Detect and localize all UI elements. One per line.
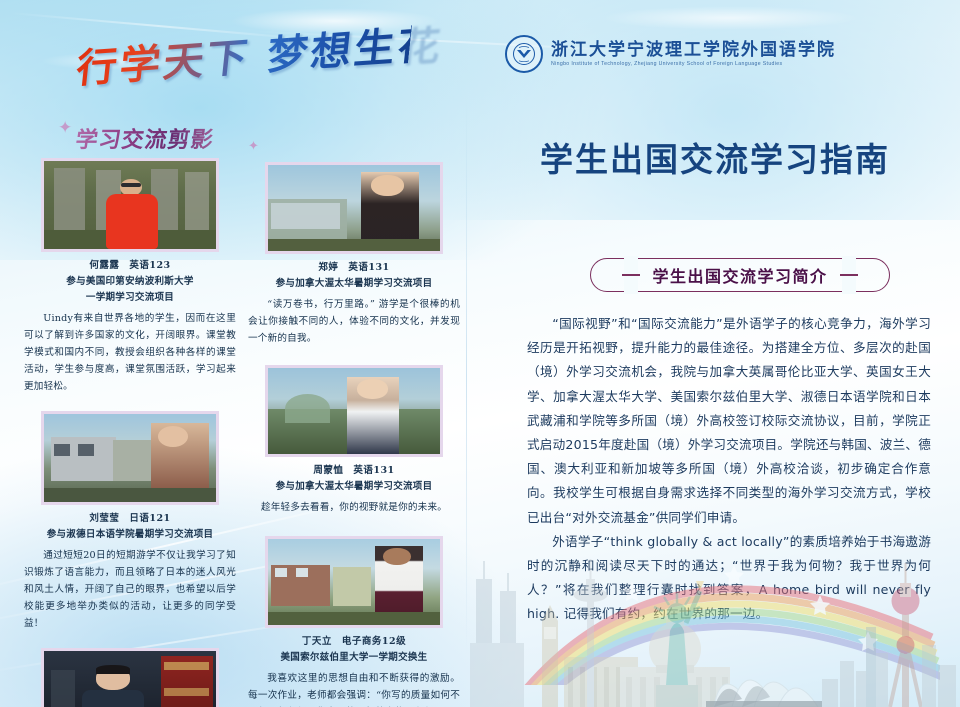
student-photo bbox=[44, 161, 216, 249]
student-program-line1: 参与淑德日本语学院暑期学习交流项目 bbox=[24, 526, 236, 540]
star-decoration-right: ✦ bbox=[248, 138, 259, 154]
student-photo bbox=[268, 539, 440, 625]
student-name-line: 刘莹莹日语121 bbox=[24, 510, 236, 524]
student-testimonial: 趁年轻多去看看，你的视野就是你的未来。 bbox=[248, 499, 460, 516]
student-photo-frame bbox=[41, 648, 219, 707]
banner-label: 学生出国交流学习简介 bbox=[590, 258, 890, 292]
student-testimonial: 通过短短20日的短期游学不仅让我学习了知识锻炼了语言能力，而且领略了日本的迷人风… bbox=[24, 547, 236, 632]
student-card: 周蒙恤英语131 参与加拿大渥太华暑期学习交流项目 趁年轻多去看看，你的视野就是… bbox=[248, 365, 460, 516]
student-photo-frame bbox=[41, 158, 219, 252]
student-photo-frame bbox=[265, 536, 443, 628]
student-card: 丁天立电子商务12级 美国索尔兹伯里大学一学期交换生 我喜欢这里的思想自由和不断… bbox=[248, 536, 460, 707]
intro-banner: 学生出国交流学习简介 bbox=[590, 258, 890, 292]
student-photo-frame bbox=[265, 162, 443, 254]
student-photo bbox=[268, 165, 440, 251]
sydney-opera-house-icon bbox=[706, 680, 836, 707]
student-card: 刘莹莹日语121 参与淑德日本语学院暑期学习交流项目 通过短短20日的短期游学不… bbox=[24, 411, 236, 632]
university-logo: 浙江大学宁波理工学院外国语学院 Ningbo Institute of Tech… bbox=[505, 35, 836, 73]
petronas-towers-icon bbox=[470, 561, 524, 707]
student-card: 贺超制造132 参与淑德日本语学院暑期学习交流项目 通过这次交流活动我了解了不少… bbox=[24, 648, 236, 707]
student-photo bbox=[44, 414, 216, 502]
student-card: 郑婷英语131 参与加拿大渥太华暑期学习交流项目 “读万卷书，行万里路。” 游学… bbox=[248, 162, 460, 347]
student-photo bbox=[268, 368, 440, 454]
section-heading: ✦ 学习交流剪影 ✦ bbox=[52, 116, 282, 156]
student-name-line: 周蒙恤英语131 bbox=[248, 462, 460, 476]
column-divider bbox=[466, 96, 467, 656]
student-name-line: 丁天立电子商务12级 bbox=[248, 633, 460, 647]
student-name: 刘莹莹 bbox=[89, 513, 119, 524]
sky-glow-right bbox=[380, 0, 960, 220]
intro-paragraph-1: “国际视野”和“国际交流能力”是外语学子的核心竞争力，海外学习经历是开拓视野，提… bbox=[527, 312, 931, 530]
student-photo-frame bbox=[41, 411, 219, 505]
student-name: 丁天立 bbox=[302, 636, 332, 647]
student-major: 电子商务12级 bbox=[342, 636, 406, 647]
city-blocks bbox=[822, 627, 956, 707]
intro-paragraph-2: 外语学子“think globally & act locally”的素质培养始… bbox=[527, 530, 931, 627]
intro-body: “国际视野”和“国际交流能力”是外语学子的核心竞争力，海外学习经历是开拓视野，提… bbox=[527, 312, 931, 627]
student-major: 英语131 bbox=[353, 465, 394, 476]
university-name-en: Ningbo Institute of Technology, Zhejiang… bbox=[551, 60, 836, 68]
university-seal-icon bbox=[505, 35, 543, 73]
star-decoration-left: ✦ bbox=[58, 118, 72, 138]
student-program-line1: 参与加拿大渥太华暑期学习交流项目 bbox=[248, 478, 460, 492]
student-major: 英语123 bbox=[129, 260, 170, 271]
student-program-line1: 参与美国印第安纳波利斯大学 bbox=[24, 273, 236, 287]
student-testimonial: Uindy有来自世界各地的学生，因而在这里可以了解到许多国家的文化，开阔眼界。课… bbox=[24, 310, 236, 395]
page-title: 学生出国交流学习指南 bbox=[540, 133, 890, 181]
student-name: 周蒙恤 bbox=[313, 465, 343, 476]
hero-title: 行学天下 梦想生花 bbox=[73, 17, 413, 102]
student-name: 郑婷 bbox=[318, 262, 338, 273]
student-testimonial: “读万卷书，行万里路。” 游学是个很棒的机会让你接触不同的人，体验不同的文化，并… bbox=[248, 296, 460, 347]
section-heading-label: 学习交流剪影 bbox=[74, 122, 217, 154]
student-name: 何露露 bbox=[89, 260, 119, 271]
cloud-wisp bbox=[600, 6, 860, 30]
student-card: 何露露英语123 参与美国印第安纳波利斯大学 一学期学习交流项目 Uindy有来… bbox=[24, 158, 236, 395]
student-program-line1: 参与加拿大渥太华暑期学习交流项目 bbox=[248, 275, 460, 289]
student-program-line2: 一学期学习交流项目 bbox=[24, 289, 236, 303]
university-logo-text: 浙江大学宁波理工学院外国语学院 Ningbo Institute of Tech… bbox=[551, 40, 836, 68]
student-program-line1: 美国索尔兹伯里大学一学期交换生 bbox=[248, 649, 460, 663]
student-name-line: 何露露英语123 bbox=[24, 257, 236, 271]
poster-page: 行学天下 梦想生花 行学天下 梦想生花 浙江大学宁波理工学院外国语学院 Ning… bbox=[0, 0, 960, 707]
student-column-2: 郑婷英语131 参与加拿大渥太华暑期学习交流项目 “读万卷书，行万里路。” 游学… bbox=[248, 162, 460, 707]
student-photo bbox=[44, 651, 216, 707]
student-photo-frame bbox=[265, 365, 443, 457]
student-major: 英语131 bbox=[348, 262, 389, 273]
student-column-1: 何露露英语123 参与美国印第安纳波利斯大学 一学期学习交流项目 Uindy有来… bbox=[24, 158, 236, 707]
student-name-line: 郑婷英语131 bbox=[248, 259, 460, 273]
university-name-cn: 浙江大学宁波理工学院外国语学院 bbox=[551, 40, 836, 60]
student-testimonial-p1: 我喜欢这里的思想自由和不断获得的激励。每一次作业，老师都会强调：“你写的质量如何… bbox=[248, 670, 460, 707]
student-major: 日语121 bbox=[129, 513, 170, 524]
